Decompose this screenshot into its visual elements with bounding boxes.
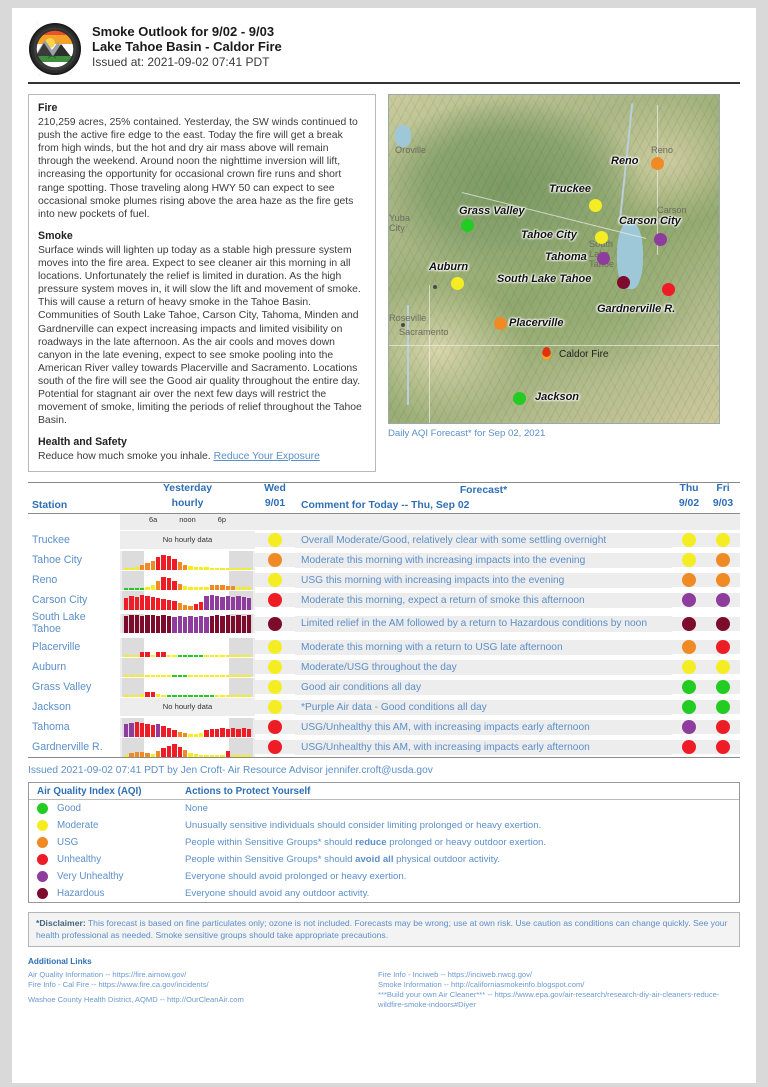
station-name: South Lake Tahoe [28,610,120,637]
hourly-cell: No hourly data [120,698,255,716]
sparkline-bar [140,616,144,633]
sparkline-bar [135,567,139,570]
map-city-dot-placerville[interactable] [494,317,507,330]
forecast-rows-container: TruckeeNo hourly dataOverall Moderate/Go… [28,530,740,757]
sparkline-bar [210,616,214,633]
map-city-label-jackson: Jackson [535,391,579,403]
footer-link-air-cleaner[interactable]: ***Build your own Air Cleaner*** -- http… [378,990,738,1010]
sparkline-bar [172,675,176,677]
sparkline-bar [231,616,235,633]
sparkline-bar [151,754,155,757]
map-city-dot-reno[interactable] [651,157,664,170]
forecast-tick-row: 6a noon 6p [28,514,740,530]
sparkline-bar [226,655,230,657]
sparkline-bar [167,600,171,610]
agency-seal-icon: INTERAGENCY WILDLAND FIRE AIR QUALITY RE… [28,22,82,76]
table-row[interactable]: JacksonNo hourly data*Purple Air data - … [28,697,740,717]
aqi-legend-row: GoodNone [29,800,739,817]
sparkline-bar [210,585,214,590]
sparkline-bar [188,753,192,757]
aqi-dot [682,680,696,694]
sparkline-bar [231,568,235,570]
footer-link-air-quality[interactable]: Air Quality Information -- https://fire.… [28,970,378,980]
thu-aqi-cell [672,573,706,587]
wed-aqi-cell [255,617,295,631]
sparkline-bar [140,752,144,757]
aqi-dot [716,740,730,754]
aqi-dot [716,533,730,547]
sparkline-bar [226,695,230,697]
aqi-action-text: People within Sensitive Groups* should r… [179,837,739,848]
header-spacer-left [28,483,120,498]
sparkline-bar [161,695,165,697]
health-text-wrap: Reduce how much smoke you inhale. Reduce… [38,450,366,463]
sparkline-bar [231,655,235,657]
sparkline-bar [188,695,192,697]
forecast-comment: USG/Unhealthy this AM, with increasing i… [295,740,672,756]
wed-aqi-cell [255,640,295,654]
sparkline-bar [204,655,208,657]
sparkline-bar [210,595,214,610]
sparkline-bar [220,728,224,737]
wed-aqi-cell [255,553,295,567]
aqi-dot [268,640,282,654]
footer-link-inciweb[interactable]: Fire Info - Inciweb -- https://inciweb.n… [378,970,738,980]
fire-text: 210,259 acres, 25% contained. Yesterday,… [38,116,366,221]
sparkline-bar [145,615,149,633]
fri-aqi-cell [706,617,740,631]
hourly-sparkline [122,678,253,697]
map-label-roseville: Roseville [389,313,426,323]
hourly-sparkline [122,738,253,757]
sparkline-bar [161,675,165,677]
sparkline-bar [226,596,230,610]
sparkline-bar [242,655,246,657]
map-caption: Daily AQI Forecast* for Sep 02, 2021 [388,428,740,439]
aqi-action-text: Everyone should avoid any outdoor activi… [179,888,739,899]
fri-aqi-cell [706,533,740,547]
sparkline-bar [140,694,144,697]
fri-aqi-cell [706,680,740,694]
aqi-legend-rows: GoodNoneModerateUnusually sensitive indi… [29,800,739,902]
sparkline-bar [161,748,165,757]
sparkline-bar [210,675,214,677]
reduce-your-exposure-link[interactable]: Reduce Your Exposure [214,451,320,462]
sparkline-bar [204,695,208,697]
sparkline-bar [161,599,165,610]
sparkline-bar [236,729,240,737]
sparkline-bar [220,585,224,590]
sparkline-bar [129,588,133,590]
caldor-fire-icon [542,347,551,360]
footer-links: Additional Links Air Quality Information… [28,957,740,1010]
sparkline-bar [151,615,155,633]
sparkline-bar [178,584,182,590]
aqi-legend-row: Very UnhealthyEveryone should avoid prol… [29,868,739,885]
smoke-text: Surface winds will lighten up today as a… [38,244,366,427]
aqi-legend-label: Very Unhealthy [57,871,123,882]
sparkline-bar [140,675,144,677]
footer-link-cal-fire[interactable]: Fire Info - Cal Fire -- https://www.fire… [28,980,378,990]
sparkline-bar [247,755,251,757]
hourly-sparkline [122,591,253,610]
fri-aqi-cell [706,720,740,734]
wed-aqi-cell [255,660,295,674]
wed-aqi-cell [255,700,295,714]
sparkline-bar [135,695,139,697]
sparkline-bar [124,568,128,570]
sparkline-bar [188,606,192,610]
sparkline-bar [183,695,187,697]
sparkline-bar [129,596,133,610]
table-row[interactable]: PlacervilleModerate this morning with a … [28,637,740,657]
sparkline-bar [188,566,192,570]
sparkline-bar [226,675,230,677]
no-hourly-data-text: No hourly data [120,698,255,716]
sparkline-bar [199,655,203,657]
sparkline-bar [188,655,192,657]
sparkline-bar [226,586,230,590]
aqi-dot [682,700,696,714]
wed-aqi-cell [255,593,295,607]
map-city-dot-south-lake-tahoe[interactable] [617,276,630,289]
aqi-legend-label: Unhealthy [57,854,101,865]
sparkline-bar [188,616,192,633]
no-hourly-data-text: No hourly data [120,531,255,549]
sparkline-bar [183,675,187,677]
sparkline-bar [199,755,203,757]
sparkline-bar [156,598,160,610]
aqi-col2-header: Actions to Protect Yourself [179,786,739,797]
hourly-cell [120,738,255,757]
map-label-reno: Reno [651,145,673,155]
sparkline-bar [215,615,219,633]
sparkline-bar [199,675,203,677]
map-city-dot-grass-valley[interactable] [461,219,474,232]
forecast-comment: Overall Moderate/Good, relatively clear … [295,533,672,549]
forecast-comment: USG/Unhealthy this AM, with increasing i… [295,720,672,736]
sparkline-bar [236,568,240,570]
tick-6a: 6a [149,515,157,524]
aqi-category-cell: Very Unhealthy [29,871,179,882]
map-city-label-carson-city: Carson City [619,215,681,227]
sparkline-bar [172,730,176,737]
sparkline-bar [172,581,176,590]
disclaimer-label: *Disclaimer: [36,918,86,928]
sparkline-bar [236,615,240,633]
aqi-dot [268,720,282,734]
sparkline-bar [124,695,128,697]
sparkline-bar [129,655,133,657]
health-heading: Health and Safety [38,436,366,449]
sparkline-bar [236,596,240,610]
thu-aqi-cell [672,640,706,654]
wed-aqi-cell [255,533,295,547]
aqi-dot [268,700,282,714]
forecast-comment: Moderate this morning with a return to U… [295,640,672,656]
aqi-dot [716,593,730,607]
sparkline-bar [210,729,214,737]
sparkline-bar [167,675,171,677]
sparkline-bar [135,615,139,633]
aqi-forecast-map[interactable]: Oroville YubaCity Reno CarsonCity SouthL… [388,94,720,424]
sparkline-bar [215,655,219,657]
sparkline-bar [124,588,128,590]
sparkline-bar [247,729,251,737]
aqi-dot [716,553,730,567]
station-name: Carson City [28,593,120,609]
aqi-legend-header: Air Quality Index (AQI) Actions to Prote… [29,783,739,800]
sparkline-bar [178,655,182,657]
sparkline-bar [178,562,182,570]
map-point-roseville [433,285,437,289]
header-forecast: Forecast* [295,483,672,498]
aqi-legend-label: Good [57,803,81,814]
hourly-sparkline [122,658,253,677]
map-label-sacramento: Sacramento [399,327,449,337]
aqi-legend-row: USGPeople within Sensitive Groups* shoul… [29,834,739,851]
sparkline-bar [220,695,224,697]
table-row[interactable]: Grass ValleyGood air conditions all day [28,677,740,697]
hourly-sparkline [122,551,253,570]
aqi-legend-dot [37,837,48,848]
header-comment: Comment for Today -- Thu, Sep 02 [295,498,672,513]
aqi-dot [716,617,730,631]
footer-link-smoke-info[interactable]: Smoke Information -- http://californiasm… [378,980,738,990]
hourly-sparkline [122,638,253,657]
aqi-dot [716,720,730,734]
sparkline-bar [199,695,203,697]
page-header: INTERAGENCY WILDLAND FIRE AIR QUALITY RE… [28,22,740,84]
aqi-legend-dot [37,854,48,865]
map-city-label-south-lake-tahoe: South Lake Tahoe [497,273,591,285]
sparkline-bar [194,567,198,570]
sparkline-bar [236,587,240,590]
footer-title: Additional Links [28,957,378,967]
sparkline-bar [215,729,219,737]
aqi-dot [268,533,282,547]
issued-by-line: Issued 2021-09-02 07:41 PDT by Jen Croft… [28,765,740,776]
sparkline-bar [161,726,165,737]
sparkline-bar [167,616,171,633]
sparkline-bar [215,695,219,697]
tick-6p: 6p [218,515,226,524]
table-row[interactable]: Tahoe CityModerate this morning with inc… [28,550,740,570]
sparkline-bar [188,675,192,677]
sparkline-bar [242,695,246,697]
station-name: Truckee [28,533,120,549]
header-fri-date: 9/03 [706,498,740,513]
table-row[interactable]: Gardnerville R.USG/Unhealthy this AM, wi… [28,737,740,757]
header-wed: Wed [255,483,295,498]
footer-link-washoe[interactable]: Washoe County Health District, AQMD -- h… [28,995,378,1005]
map-city-dot-truckee[interactable] [589,199,602,212]
sparkline-bar [183,605,187,610]
forecast-comment: Moderate/USG throughout the day [295,660,672,676]
sparkline-bar [156,581,160,590]
sparkline-bar [183,586,187,590]
hourly-cell [120,638,255,657]
sparkline-bar [199,616,203,633]
sparkline-bar [226,751,230,757]
sparkline-bar [124,724,128,737]
thu-aqi-cell [672,593,706,607]
sparkline-bar [151,561,155,570]
table-row[interactable]: Carson CityModerate this morning, expect… [28,590,740,610]
aqi-dot [268,553,282,567]
aqi-dot [716,660,730,674]
table-row[interactable]: RenoUSG this morning with increasing imp… [28,570,740,590]
footer-left-column: Additional Links Air Quality Information… [28,957,378,1010]
table-row[interactable]: TruckeeNo hourly dataOverall Moderate/Go… [28,530,740,550]
map-city-dot-jackson[interactable] [513,392,526,405]
sparkline-bar [199,587,203,590]
station-name: Auburn [28,660,120,676]
aqi-dot [682,617,696,631]
forecast-comment: Moderate this morning with increasing im… [295,553,672,569]
sparkline-bar [242,616,246,633]
aqi-dot [268,593,282,607]
sparkline-bar [247,655,251,657]
sparkline-bar [178,732,182,737]
aqi-dot [682,593,696,607]
sparkline-bar [161,652,165,657]
sparkline-bar [210,655,214,657]
sparkline-bar [194,695,198,697]
sparkline-bar [231,695,235,697]
aqi-dot [682,553,696,567]
header-station: Station [28,498,120,513]
disclaimer-text: This forecast is based on fine particula… [36,918,727,940]
sparkline-bar [178,747,182,757]
wed-aqi-cell [255,720,295,734]
sparkline-bar [242,568,246,570]
sparkline-bar [194,604,198,610]
fri-aqi-cell [706,740,740,754]
sparkline-bar [178,603,182,610]
sparkline-bar [145,587,149,590]
sparkline-bar [236,755,240,757]
sparkline-bar [204,587,208,590]
header-thu: Thu [672,483,706,498]
sparkline-bar [226,615,230,633]
hourly-cell [120,551,255,570]
sparkline-bar [172,695,176,697]
sparkline-bar [178,616,182,633]
sparkline-bar [247,587,251,590]
header-fri: Fri [706,483,740,498]
aqi-category-cell: Hazardous [29,888,179,899]
sparkline-bar [194,734,198,737]
sparkline-bar [172,559,176,570]
sparkline-bar [247,695,251,697]
sparkline-bar [135,722,139,737]
sparkline-bar [129,615,133,633]
sparkline-bar [204,567,208,570]
sparkline-bar [242,675,246,677]
map-city-dot-carson-city[interactable] [654,233,667,246]
hourly-cell: No hourly data [120,531,255,549]
sparkline-bar [151,692,155,697]
sparkline-bar [183,655,187,657]
aqi-action-emphasis: avoid all [355,854,393,865]
sparkline-bar [145,724,149,737]
sparkline-bar [194,587,198,590]
aqi-legend-table: Air Quality Index (AQI) Actions to Prote… [28,782,740,903]
station-name: Reno [28,573,120,589]
sparkline-bar [151,585,155,590]
station-name: Tahoma [28,720,120,736]
sparkline-bar [247,598,251,610]
map-city-dot-tahoe-city[interactable] [595,231,608,244]
thu-aqi-cell [672,533,706,547]
sparkline-bar [204,617,208,633]
sparkline-bar [129,723,133,737]
aqi-action-emphasis: reduce [355,837,386,848]
sparkline-bar [215,675,219,677]
sparkline-bar [204,596,208,610]
sparkline-bar [156,652,160,657]
road-2 [429,285,430,424]
sparkline-bar [145,675,149,677]
sparkline-bar [210,755,214,757]
aqi-dot [716,680,730,694]
thu-aqi-cell [672,617,706,631]
wed-aqi-cell [255,680,295,694]
hourly-sparkline [122,614,253,633]
map-city-dot-gardnerville[interactable] [662,283,675,296]
station-name: Tahoe City [28,553,120,569]
sparkline-bar [156,751,160,757]
sparkline-bar [145,753,149,757]
sparkline-bar [172,655,176,657]
sparkline-bar [151,655,155,657]
table-row[interactable]: TahomaUSG/Unhealthy this AM, with increa… [28,717,740,737]
sparkline-bar [226,568,230,570]
sparkline-bar [151,597,155,610]
sparkline-bar [215,585,219,590]
aqi-action-text: Everyone should avoid prolonged or heavy… [179,871,739,882]
forecast-comment: Limited relief in the AM followed by a r… [295,616,672,632]
map-city-label-tahoe-city: Tahoe City [521,229,577,241]
sparkline-bar [188,734,192,737]
sparkline-bar [124,616,128,633]
map-city-dot-tahoma[interactable] [597,252,610,265]
table-row[interactable]: South Lake TahoeLimited relief in the AM… [28,610,740,637]
sparkline-bar [242,597,246,610]
sparkline-bar [156,724,160,737]
forecast-comment: USG this morning with increasing impacts… [295,573,672,589]
sparkline-bar [199,602,203,610]
sparkline-bar [183,617,187,633]
aqi-category-cell: USG [29,837,179,848]
map-city-dot-auburn[interactable] [451,277,464,290]
thu-aqi-cell [672,680,706,694]
map-city-label-placerville: Placerville [509,317,563,329]
sparkline-bar [231,597,235,610]
sparkline-bar [129,695,133,697]
sparkline-bar [135,752,139,757]
hourly-cell [120,718,255,737]
map-point-sacramento [401,323,405,327]
sparkline-bar [183,565,187,570]
table-row[interactable]: AuburnModerate/USG throughout the day [28,657,740,677]
lake-oroville-shape [395,125,411,147]
sparkline-bar [172,617,176,633]
sparkline-bar [140,723,144,737]
sparkline-bar [188,587,192,590]
sparkline-bar [167,655,171,657]
